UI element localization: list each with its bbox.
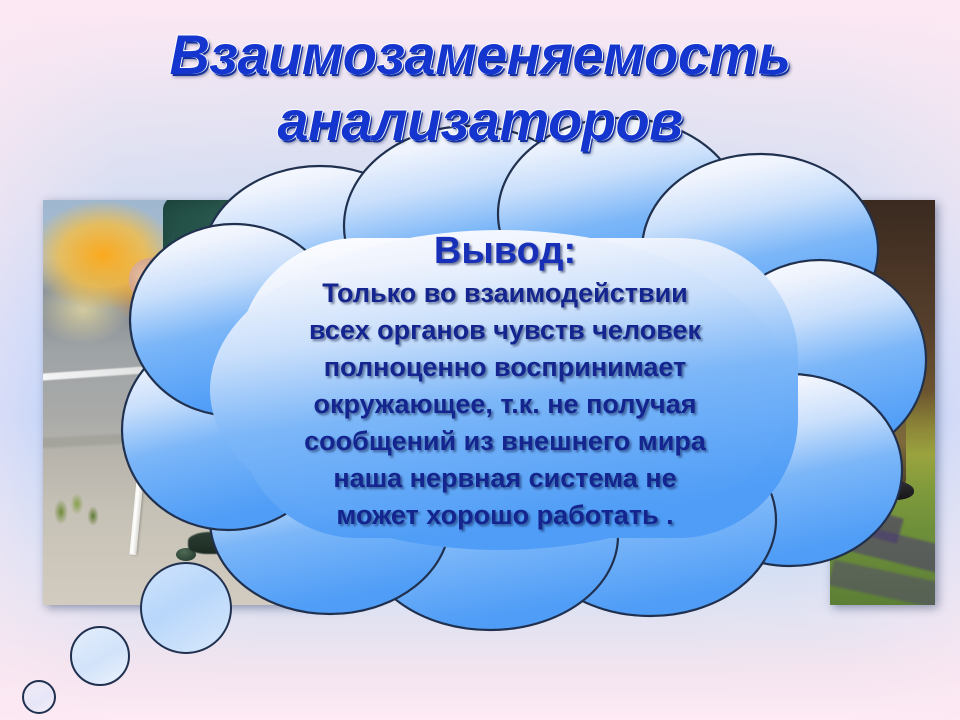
photo-person-with-white-cane	[43, 200, 343, 605]
jacket-hem-shape	[163, 292, 343, 402]
thought-bubble-small	[22, 680, 56, 714]
thought-bubble-large	[140, 562, 232, 654]
white-cane-shape	[129, 288, 162, 555]
weed-shape	[47, 488, 109, 530]
slide-title: Взаимозаменяемость анализаторов	[0, 22, 960, 154]
photo-walking-feet	[830, 200, 935, 605]
slide-title-line-1: Взаимозаменяемость	[0, 22, 960, 88]
shoe-shape	[188, 532, 244, 554]
leg-shape-a	[834, 432, 850, 498]
slide-title-line-2: анализаторов	[0, 88, 960, 154]
shoe-shape-a	[830, 492, 866, 510]
thought-bubble-medium	[70, 626, 130, 686]
leg-shape-b	[876, 390, 906, 486]
presentation-slide: Вывод: Только во взаимодействии всех орг…	[0, 0, 960, 720]
curb-shape	[43, 421, 343, 448]
shoe-shape-b	[868, 480, 914, 500]
